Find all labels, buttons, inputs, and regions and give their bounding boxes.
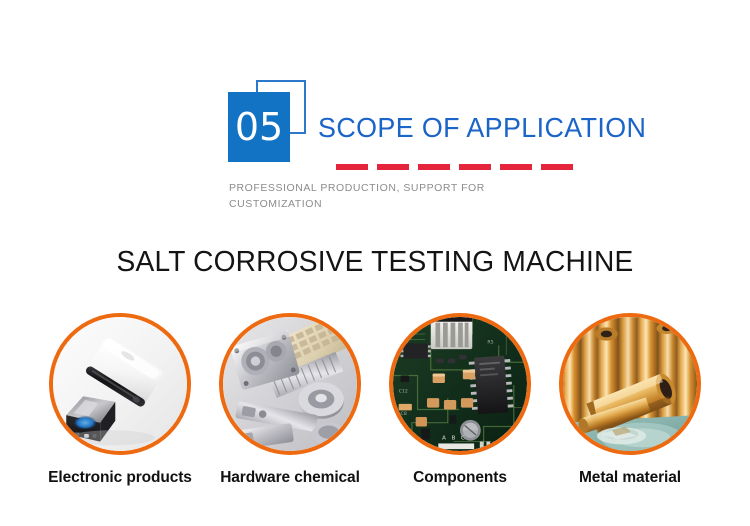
section-subtitle: PROFESSIONAL PRODUCTION, SUPPORT FOR CUS… xyxy=(229,180,529,212)
svg-text:R5: R5 xyxy=(487,339,493,345)
page-title: SALT CORROSIVE TESTING MACHINE xyxy=(11,246,739,279)
dash-segment xyxy=(541,164,573,170)
dash-segment xyxy=(459,164,491,170)
application-card: ABC C12C8R5 Components xyxy=(389,313,531,487)
svg-text:C8: C8 xyxy=(401,411,407,417)
badge-number-text: 05 xyxy=(228,92,290,162)
svg-text:A: A xyxy=(442,436,446,442)
application-card: Electronic products xyxy=(49,313,191,487)
section-title: SCOPE OF APPLICATION xyxy=(318,112,646,144)
dash-segment xyxy=(418,164,450,170)
components-pcb-photo: ABC C12C8R5 xyxy=(393,317,527,451)
application-card: Hardware chemical xyxy=(219,313,361,487)
card-image-circle xyxy=(219,313,361,455)
svg-text:C: C xyxy=(461,436,465,442)
card-caption: Components xyxy=(389,469,531,487)
application-card: Metal material xyxy=(559,313,701,487)
metal-material-photo xyxy=(563,317,697,451)
application-cards-row: Electronic products xyxy=(0,313,750,513)
dash-segment xyxy=(500,164,532,170)
slide-root: { "header": { "badge_number": "05", "sec… xyxy=(0,0,750,526)
section-number-badge: 05 xyxy=(228,80,308,164)
card-image-circle xyxy=(559,313,701,455)
header-block: 05 SCOPE OF APPLICATION PROFESSIONAL PRO… xyxy=(0,0,750,230)
dash-segment xyxy=(336,164,368,170)
card-image-circle xyxy=(49,313,191,455)
dash-segment xyxy=(377,164,409,170)
svg-text:B: B xyxy=(452,436,456,442)
card-caption: Metal material xyxy=(545,469,715,487)
card-caption: Hardware chemical xyxy=(205,469,375,487)
hardware-chemical-photo xyxy=(223,317,357,451)
svg-text:C12: C12 xyxy=(399,388,408,394)
card-image-circle: ABC C12C8R5 xyxy=(389,313,531,455)
electronic-products-photo xyxy=(53,317,187,451)
red-dash-divider xyxy=(336,164,573,170)
card-caption: Electronic products xyxy=(35,469,205,487)
